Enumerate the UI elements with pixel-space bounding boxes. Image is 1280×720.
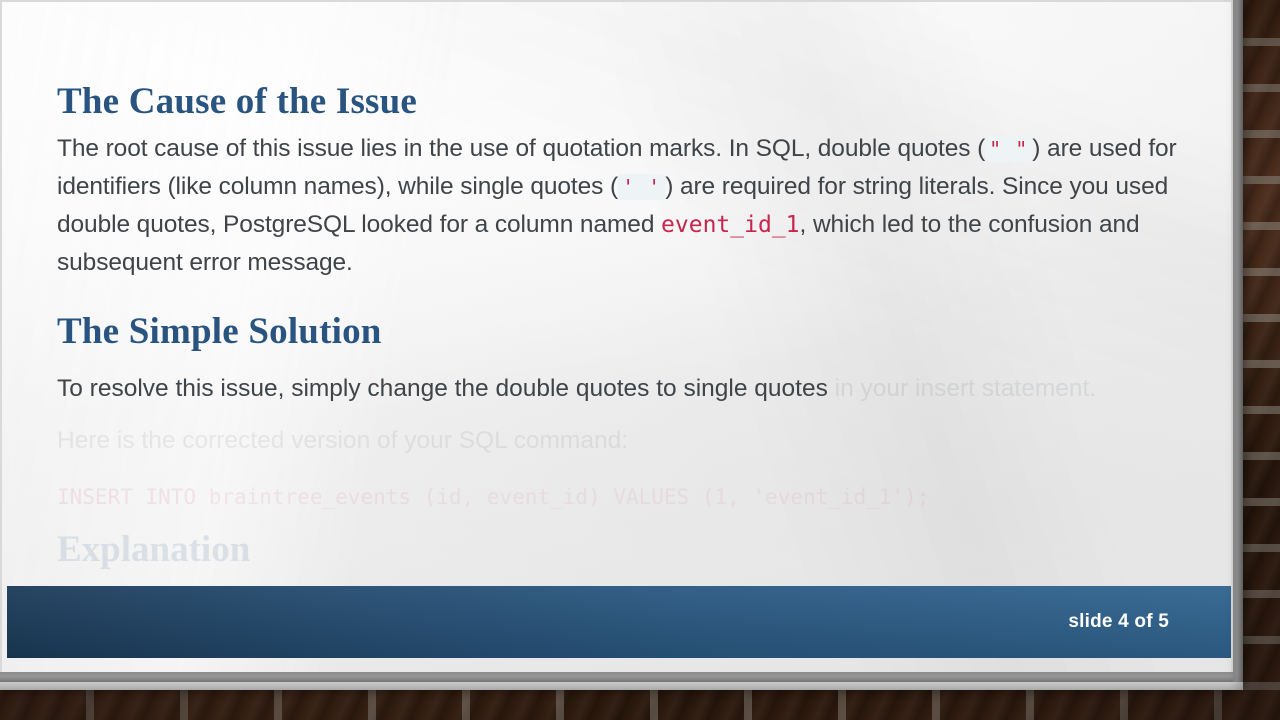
presentation-slide: The Cause of the Issue The root cause of…	[2, 2, 1231, 680]
code-identifier-event-id-1: event_id_1	[661, 212, 799, 238]
code-double-quotes: " "	[985, 136, 1032, 162]
ghost-code-block-sql: INSERT INTO braintree_events (id, event_…	[57, 482, 1217, 512]
slide-counter: slide 4 of 5	[1068, 611, 1169, 633]
paragraph-cause-of-the-issue: The root cause of this issue lies in the…	[57, 130, 1217, 282]
slide-right-scroll-rail[interactable]	[1233, 0, 1243, 682]
heading-cause-of-the-issue: The Cause of the Issue	[57, 80, 1217, 124]
ghost-heading-explanation: Explanation	[57, 528, 1217, 571]
ghost-text-tail: in your insert statement.	[828, 375, 1096, 402]
animated-reveal-region: To resolve this issue, simply change the…	[57, 370, 1217, 571]
ghost-code-remainder: (id, event_id) VALUES (1, 'event_id_1');	[424, 485, 930, 509]
ghost-code-table-name: braintree_events	[209, 485, 411, 509]
revealed-text: To resolve this issue, simply change the…	[57, 375, 828, 402]
slide-content: The Cause of the Issue The root cause of…	[57, 80, 1217, 359]
ghost-code-keyword: INSERT INTO	[57, 485, 196, 509]
heading-the-simple-solution: The Simple Solution	[57, 310, 1217, 354]
paragraph-simple-solution: To resolve this issue, simply change the…	[57, 370, 1217, 408]
code-single-quotes: ' '	[618, 174, 665, 200]
slide-viewer-frame: The Cause of the Issue The root cause of…	[0, 0, 1243, 690]
slide-bottom-edge-rail	[0, 672, 1233, 682]
slide-footer-bar: slide 4 of 5	[7, 586, 1231, 658]
ghost-sentence-corrected-version: Here is the corrected version of your SQ…	[57, 422, 1217, 460]
paragraph-text-part-1: The root cause of this issue lies in the…	[57, 135, 985, 162]
